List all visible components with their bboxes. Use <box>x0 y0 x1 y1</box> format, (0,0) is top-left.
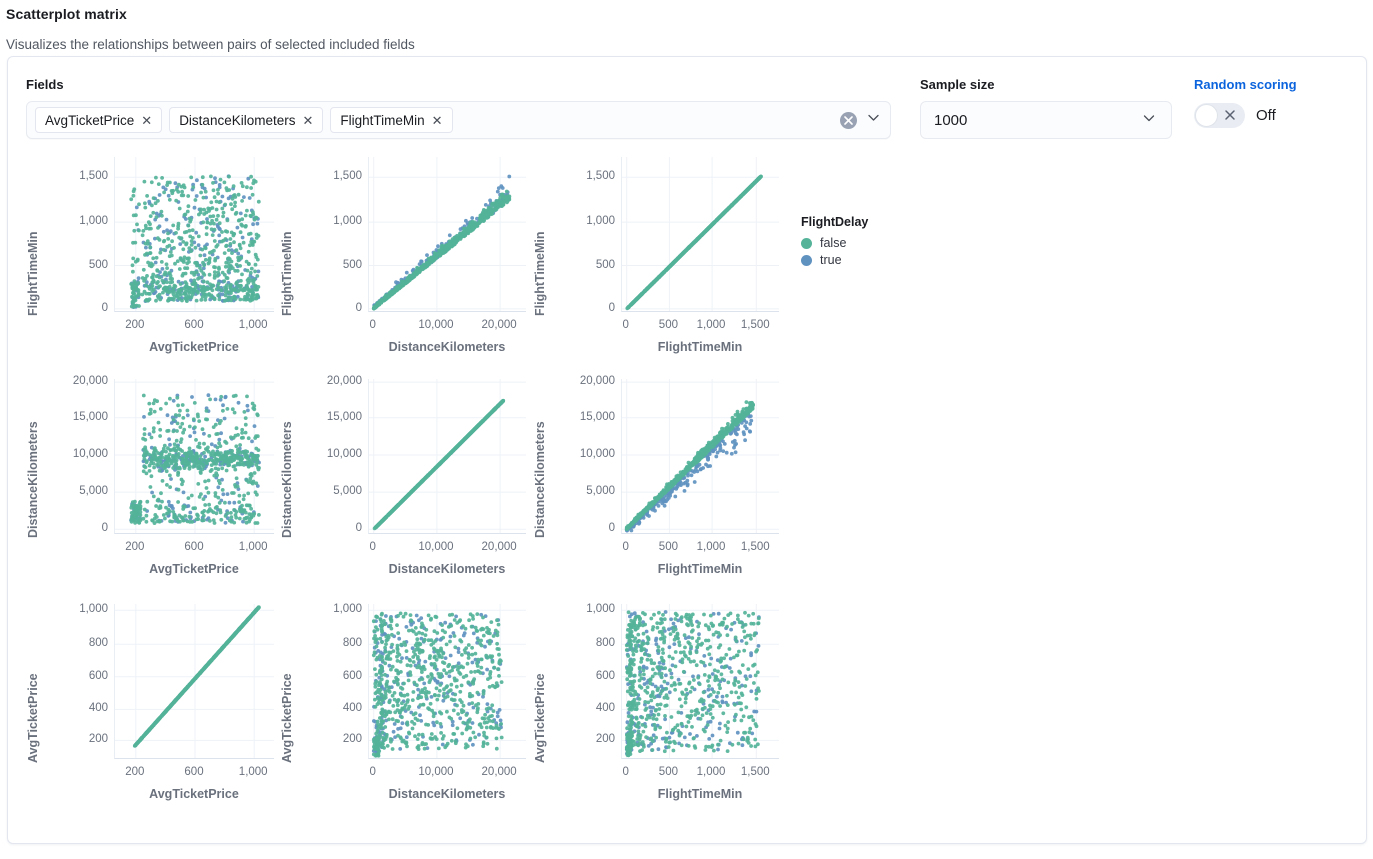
y-axis-tick: 1,500 <box>296 170 362 182</box>
y-axis-tick: 0 <box>549 302 615 314</box>
y-axis-tick: 1,000 <box>296 215 362 227</box>
y-axis-tick: 200 <box>42 733 108 745</box>
sample-size-control: Sample size 1000 <box>920 77 1172 139</box>
y-axis-tick: 500 <box>42 259 108 271</box>
y-axis-tick: 10,000 <box>296 448 362 460</box>
toggle-knob <box>1195 104 1218 127</box>
x-axis-tick: 10,000 <box>406 319 466 331</box>
y-axis-tick: 15,000 <box>42 411 108 423</box>
y-axis-tick: 400 <box>42 702 108 714</box>
y-axis-tick: 1,500 <box>549 170 615 182</box>
x-axis-tick: 0 <box>343 319 403 331</box>
clear-circle-icon[interactable] <box>840 112 857 129</box>
combobox-actions <box>840 110 881 130</box>
cross-icon[interactable]: ✕ <box>302 114 313 127</box>
y-axis-tick: 20,000 <box>296 375 362 387</box>
y-axis-tick: 0 <box>42 522 108 534</box>
x-axis-tick: 20,000 <box>469 319 529 331</box>
y-axis-label: AvgTicketPrice <box>280 608 294 763</box>
y-axis-tick: 0 <box>42 302 108 314</box>
y-axis-tick: 10,000 <box>549 448 615 460</box>
x-axis-label: AvgTicketPrice <box>74 562 314 576</box>
field-pill-flighttimemin[interactable]: FlightTimeMin ✕ <box>330 107 452 133</box>
field-pill-avgticketprice[interactable]: AvgTicketPrice ✕ <box>35 107 162 133</box>
y-axis-tick: 200 <box>296 733 362 745</box>
random-scoring-switch-row: Off <box>1194 103 1297 128</box>
x-axis-tick: 200 <box>105 541 165 553</box>
y-axis-tick: 400 <box>549 702 615 714</box>
x-axis-tick: 200 <box>105 766 165 778</box>
x-axis-tick: 0 <box>343 541 403 553</box>
legend-item-false[interactable]: false <box>801 236 868 250</box>
cross-icon[interactable]: ✕ <box>432 114 443 127</box>
y-axis-label: FlightTimeMin <box>280 161 294 316</box>
sample-size-select[interactable]: 1000 <box>920 101 1172 139</box>
legend-item-label: true <box>820 253 842 267</box>
x-axis-label: FlightTimeMin <box>581 787 819 801</box>
y-axis-tick: 20,000 <box>549 375 615 387</box>
controls-row: Fields AvgTicketPrice ✕ DistanceKilomete… <box>8 57 1366 149</box>
x-axis-tick: 20,000 <box>469 766 529 778</box>
y-axis-tick: 0 <box>549 522 615 534</box>
y-axis-tick: 15,000 <box>549 411 615 423</box>
chevron-down-icon[interactable] <box>1141 110 1157 130</box>
plot-area[interactable] <box>621 157 779 312</box>
x-axis-tick: 1,500 <box>725 319 785 331</box>
fields-label: Fields <box>26 77 891 92</box>
field-pill-distancekilometers[interactable]: DistanceKilometers ✕ <box>169 107 323 133</box>
x-axis-label: FlightTimeMin <box>581 562 819 576</box>
y-axis-tick: 200 <box>549 733 615 745</box>
legend: FlightDelay false true <box>801 215 868 270</box>
y-axis-label: FlightTimeMin <box>26 161 40 316</box>
y-axis-tick: 1,000 <box>42 603 108 615</box>
y-axis-tick: 1,000 <box>549 603 615 615</box>
y-axis-tick: 800 <box>42 637 108 649</box>
y-axis-tick: 10,000 <box>42 448 108 460</box>
x-axis-label: AvgTicketPrice <box>74 787 314 801</box>
legend-title: FlightDelay <box>801 215 868 229</box>
random-scoring-toggle[interactable] <box>1194 103 1245 128</box>
legend-color-dot <box>801 255 812 266</box>
page-title: Scatterplot matrix <box>0 0 1373 22</box>
legend-item-true[interactable]: true <box>801 253 868 267</box>
cross-icon <box>1223 108 1237 127</box>
y-axis-tick: 800 <box>296 637 362 649</box>
plot-area[interactable] <box>114 379 274 534</box>
random-scoring-control: Random scoring Off <box>1194 77 1297 128</box>
y-axis-tick: 500 <box>549 259 615 271</box>
random-scoring-label[interactable]: Random scoring <box>1194 77 1297 92</box>
y-axis-tick: 5,000 <box>42 485 108 497</box>
plot-area[interactable] <box>368 604 526 759</box>
field-pill-label: DistanceKilometers <box>179 113 295 128</box>
x-axis-tick: 1,500 <box>725 541 785 553</box>
random-scoring-state: Off <box>1256 107 1276 124</box>
x-axis-tick: 600 <box>164 541 224 553</box>
y-axis-tick: 1,000 <box>42 215 108 227</box>
fields-combobox[interactable]: AvgTicketPrice ✕ DistanceKilometers ✕ Fl… <box>26 101 891 139</box>
y-axis-tick: 5,000 <box>549 485 615 497</box>
x-axis-tick: 10,000 <box>406 541 466 553</box>
cross-icon[interactable]: ✕ <box>141 114 152 127</box>
x-axis-label: DistanceKilometers <box>328 340 566 354</box>
x-axis-tick: 0 <box>343 766 403 778</box>
plot-area[interactable] <box>368 379 526 534</box>
scatterplot-matrix-grid: FlightTimeMin05001,0001,5002006001,000Av… <box>8 149 1368 839</box>
y-axis-tick: 1,500 <box>42 170 108 182</box>
y-axis-label: FlightTimeMin <box>533 161 547 316</box>
field-pill-label: AvgTicketPrice <box>45 113 134 128</box>
page-subtitle: Visualizes the relationships between pai… <box>0 22 1373 52</box>
matrix-panel: Fields AvgTicketPrice ✕ DistanceKilomete… <box>7 56 1367 844</box>
y-axis-tick: 0 <box>296 302 362 314</box>
plot-area[interactable] <box>114 604 274 759</box>
chevron-down-icon[interactable] <box>866 110 881 130</box>
y-axis-tick: 1,000 <box>296 603 362 615</box>
x-axis-label: FlightTimeMin <box>581 340 819 354</box>
sample-size-label: Sample size <box>920 77 1172 92</box>
x-axis-label: DistanceKilometers <box>328 787 566 801</box>
plot-area[interactable] <box>621 604 779 759</box>
y-axis-label: DistanceKilometers <box>533 383 547 538</box>
y-axis-label: DistanceKilometers <box>280 383 294 538</box>
y-axis-tick: 0 <box>296 522 362 534</box>
x-axis-tick: 1,500 <box>725 766 785 778</box>
plot-area[interactable] <box>368 157 526 312</box>
plot-area[interactable] <box>114 157 274 312</box>
x-axis-tick: 1,000 <box>223 319 283 331</box>
y-axis-tick: 15,000 <box>296 411 362 423</box>
sample-size-value: 1000 <box>934 112 967 129</box>
legend-item-label: false <box>820 236 846 250</box>
y-axis-tick: 5,000 <box>296 485 362 497</box>
x-axis-tick: 20,000 <box>469 541 529 553</box>
y-axis-tick: 20,000 <box>42 375 108 387</box>
x-axis-tick: 600 <box>164 766 224 778</box>
y-axis-label: AvgTicketPrice <box>26 608 40 763</box>
x-axis-tick: 1,000 <box>223 541 283 553</box>
y-axis-tick: 1,000 <box>549 215 615 227</box>
y-axis-tick: 800 <box>549 637 615 649</box>
y-axis-tick: 600 <box>296 670 362 682</box>
scatterplot-matrix-page: Scatterplot matrix Visualizes the relati… <box>0 0 1373 859</box>
x-axis-tick: 10,000 <box>406 766 466 778</box>
fields-control: Fields AvgTicketPrice ✕ DistanceKilomete… <box>26 77 891 139</box>
x-axis-tick: 200 <box>105 319 165 331</box>
field-pill-label: FlightTimeMin <box>340 113 424 128</box>
y-axis-tick: 600 <box>549 670 615 682</box>
x-axis-label: DistanceKilometers <box>328 562 566 576</box>
y-axis-tick: 400 <box>296 702 362 714</box>
plot-area[interactable] <box>621 379 779 534</box>
x-axis-label: AvgTicketPrice <box>74 340 314 354</box>
y-axis-tick: 600 <box>42 670 108 682</box>
y-axis-label: AvgTicketPrice <box>533 608 547 763</box>
x-axis-tick: 1,000 <box>223 766 283 778</box>
y-axis-label: DistanceKilometers <box>26 383 40 538</box>
legend-color-dot <box>801 238 812 249</box>
x-axis-tick: 600 <box>164 319 224 331</box>
y-axis-tick: 500 <box>296 259 362 271</box>
